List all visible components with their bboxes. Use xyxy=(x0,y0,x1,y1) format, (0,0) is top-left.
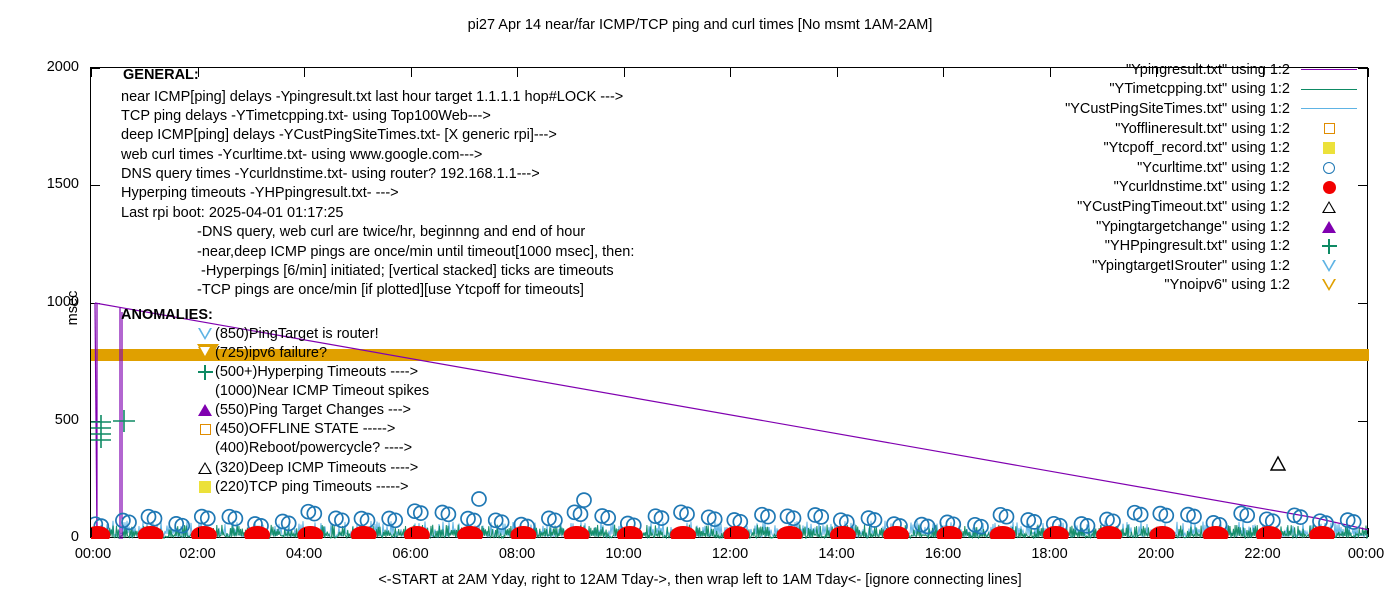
general-line-5: Hyperping timeouts -YHPpingresult.txt- -… xyxy=(121,184,399,204)
legend-label: "Ypingresult.txt" using 1:2 xyxy=(1126,62,1290,78)
x-tickmark xyxy=(943,528,944,537)
series-ycustpingtimeout xyxy=(1271,457,1285,470)
line-swatch-icon xyxy=(1290,69,1368,70)
x-tickmark-top xyxy=(1368,68,1369,77)
legend-label: "YCustPingSiteTimes.txt" using 1:2 xyxy=(1065,101,1290,117)
triangle-up-open-icon xyxy=(1290,201,1368,213)
x-tickmark xyxy=(198,528,199,537)
x-tick-12: 00:00 xyxy=(1348,546,1384,562)
anomaly-label: (550)Ping Target Changes ---> xyxy=(215,402,411,418)
legend-label: "Ytcpoff_record.txt" using 1:2 xyxy=(1103,140,1290,156)
triangle-down-orange-icon xyxy=(195,347,215,359)
x-tickmark-top xyxy=(624,68,625,77)
legend-label: "Ynoipv6" using 1:2 xyxy=(1164,277,1290,293)
legend-label: "Ypingtargetchange" using 1:2 xyxy=(1096,219,1290,235)
x-axis-caption: <-START at 2AM Yday, right to 12AM Tday-… xyxy=(0,572,1400,588)
circle-filled-icon xyxy=(1290,181,1368,194)
general-line-1: TCP ping delays -YTimetcpping.txt- using… xyxy=(121,107,491,127)
triangle-down-cyan-icon xyxy=(1290,260,1368,272)
y-tick-1000: 1000 xyxy=(0,295,79,310)
x-tickmark-top xyxy=(517,68,518,77)
anomaly-row-6: (400)Reboot/powercycle? ----> xyxy=(195,440,412,456)
x-tick-6: 12:00 xyxy=(712,546,748,562)
general-line-3: web curl times -Ycurltime.txt- using www… xyxy=(121,146,482,166)
x-tick-11: 22:00 xyxy=(1244,546,1280,562)
anomaly-row-3: (1000)Near ICMP Timeout spikes xyxy=(195,383,429,399)
legend-item-ytimetcpping[interactable]: "YTimetcpping.txt" using 1:2 xyxy=(990,80,1368,100)
general-heading: GENERAL: xyxy=(123,66,199,86)
x-tickmark xyxy=(1368,528,1369,537)
x-tickmark xyxy=(837,528,838,537)
x-tick-10: 20:00 xyxy=(1138,546,1174,562)
legend-item-ypingtargetchange[interactable]: "Ypingtargetchange" using 1:2 xyxy=(990,217,1368,237)
x-tickmark xyxy=(1263,528,1264,537)
x-tickmark-top xyxy=(91,68,92,77)
legend-item-ycurltime[interactable]: "Ycurltime.txt" using 1:2 xyxy=(990,158,1368,178)
anomaly-row-8: (220)TCP ping Timeouts -----> xyxy=(195,479,409,495)
anomaly-row-0: (850)PingTarget is router! xyxy=(195,326,379,342)
x-tickmark xyxy=(304,528,305,537)
x-tickmark-top xyxy=(304,68,305,77)
general-line-2: deep ICMP[ping] delays -YCustPingSiteTim… xyxy=(121,126,557,146)
triangle-up-filled-icon xyxy=(1290,221,1368,233)
legend: "Ypingresult.txt" using 1:2 "YTimetcppin… xyxy=(990,60,1368,295)
legend-item-yhppingresult[interactable]: "YHPpingresult.txt" using 1:2 xyxy=(990,236,1368,256)
anomaly-row-7: (320)Deep ICMP Timeouts ----> xyxy=(195,460,418,476)
legend-item-ycurldnstime[interactable]: "Ycurldnstime.txt" using 1:2 xyxy=(990,178,1368,198)
x-tick-4: 08:00 xyxy=(499,546,535,562)
general-note-1: -near,deep ICMP pings are once/min until… xyxy=(197,243,634,263)
chart-title: pi27 Apr 14 near/far ICMP/TCP ping and c… xyxy=(0,17,1400,33)
anomaly-label: (725)ipv6 failure? xyxy=(215,345,327,361)
x-tick-7: 14:00 xyxy=(818,546,854,562)
legend-label: "Ycurltime.txt" using 1:2 xyxy=(1137,160,1290,176)
square-open-icon xyxy=(195,424,215,435)
legend-item-ypingresult[interactable]: "Ypingresult.txt" using 1:2 xyxy=(990,60,1368,80)
anomaly-label: (220)TCP ping Timeouts -----> xyxy=(215,479,409,495)
triangle-up-filled-icon xyxy=(195,404,215,416)
square-filled-icon xyxy=(195,481,215,493)
line-swatch-icon xyxy=(1290,108,1368,109)
legend-label: "Yofflineresult.txt" using 1:2 xyxy=(1115,121,1290,137)
general-note-2: -Hyperpings [6/min] initiated; [vertical… xyxy=(197,262,614,282)
x-tickmark xyxy=(1050,528,1051,537)
anomaly-row-2: (500+)Hyperping Timeouts ----> xyxy=(195,364,418,380)
general-note-3: -TCP pings are once/min [if plotted][use… xyxy=(197,281,584,301)
general-note-0: -DNS query, web curl are twice/hr, begin… xyxy=(197,223,585,243)
anomaly-label: (850)PingTarget is router! xyxy=(215,326,379,342)
y-tick-0: 0 xyxy=(0,530,79,545)
anomaly-row-1: (725)ipv6 failure? xyxy=(195,345,327,361)
legend-label: "YTimetcpping.txt" using 1:2 xyxy=(1109,81,1290,97)
anomaly-label: (320)Deep ICMP Timeouts ----> xyxy=(215,460,418,476)
plus-icon xyxy=(1290,239,1368,254)
square-open-icon xyxy=(1290,123,1368,134)
x-tickmark xyxy=(624,528,625,537)
anomaly-label: (1000)Near ICMP Timeout spikes xyxy=(215,383,429,399)
legend-item-ycustpingtimeout[interactable]: "YCustPingTimeout.txt" using 1:2 xyxy=(990,197,1368,217)
triangle-down-cyan-icon xyxy=(195,328,215,340)
x-tick-5: 10:00 xyxy=(605,546,641,562)
x-tick-3: 06:00 xyxy=(392,546,428,562)
anomaly-label: (450)OFFLINE STATE -----> xyxy=(215,421,395,437)
x-tick-8: 16:00 xyxy=(925,546,961,562)
y-tick-1500: 1500 xyxy=(0,177,79,192)
x-tick-0: 00:00 xyxy=(75,546,111,562)
x-tickmark xyxy=(1156,528,1157,537)
legend-label: "YCustPingTimeout.txt" using 1:2 xyxy=(1077,199,1290,215)
x-tickmark-top xyxy=(411,68,412,77)
general-line-4: DNS query times -Ycurldnstime.txt- using… xyxy=(121,165,540,185)
x-tickmark xyxy=(91,528,92,537)
anomaly-row-5: (450)OFFLINE STATE -----> xyxy=(195,421,395,437)
x-tickmark xyxy=(411,528,412,537)
anomaly-row-4: (550)Ping Target Changes ---> xyxy=(195,402,411,418)
legend-label: "Ycurldnstime.txt" using 1:2 xyxy=(1114,179,1290,195)
x-tick-1: 02:00 xyxy=(179,546,215,562)
y-tick-500: 500 xyxy=(0,413,79,428)
general-line-0: near ICMP[ping] delays -Ypingresult.txt … xyxy=(121,88,623,108)
legend-item-yofflineresult[interactable]: "Yofflineresult.txt" using 1:2 xyxy=(990,119,1368,139)
line-swatch-icon xyxy=(1290,89,1368,90)
x-tick-9: 18:00 xyxy=(1031,546,1067,562)
y-tick-2000: 2000 xyxy=(0,60,79,75)
x-tickmark-top xyxy=(198,68,199,77)
square-filled-icon xyxy=(1290,142,1368,154)
general-line-6: Last rpi boot: 2025-04-01 01:17:25 xyxy=(121,204,344,224)
legend-item-ycustpingsitetimes[interactable]: "YCustPingSiteTimes.txt" using 1:2 xyxy=(990,99,1368,119)
x-tickmark xyxy=(730,528,731,537)
anomalies-heading: ANOMALIES: xyxy=(121,306,213,326)
legend-label: "YpingtargetISrouter" using 1:2 xyxy=(1092,258,1290,274)
anomaly-label: (500+)Hyperping Timeouts ----> xyxy=(215,364,418,380)
triangle-up-open-icon xyxy=(195,462,215,474)
anomaly-label: (400)Reboot/powercycle? ----> xyxy=(215,440,412,456)
triangle-down-orange-icon xyxy=(1290,279,1368,291)
legend-item-ytcpoff-record[interactable]: "Ytcpoff_record.txt" using 1:2 xyxy=(990,138,1368,158)
legend-item-ypingtargetisrouter[interactable]: "YpingtargetISrouter" using 1:2 xyxy=(990,256,1368,276)
x-tick-2: 04:00 xyxy=(286,546,322,562)
legend-label: "YHPpingresult.txt" using 1:2 xyxy=(1105,238,1290,254)
plus-icon xyxy=(195,365,215,380)
x-tickmark-top xyxy=(837,68,838,77)
x-tickmark-top xyxy=(730,68,731,77)
legend-item-ynoipv6[interactable]: "Ynoipv6" using 1:2 xyxy=(990,276,1368,296)
x-tickmark-top xyxy=(943,68,944,77)
x-tickmark xyxy=(517,528,518,537)
circle-open-icon xyxy=(1290,162,1368,174)
